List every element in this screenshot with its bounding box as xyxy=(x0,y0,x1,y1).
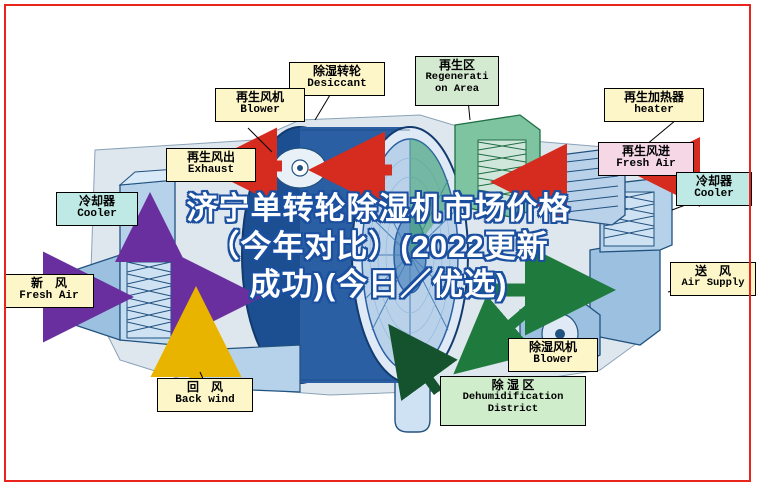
diagram-canvas: 除湿转轮 Desiccant 再生风机 Blower 再生区 Regenerat… xyxy=(0,0,757,488)
red-border-frame xyxy=(4,4,751,482)
